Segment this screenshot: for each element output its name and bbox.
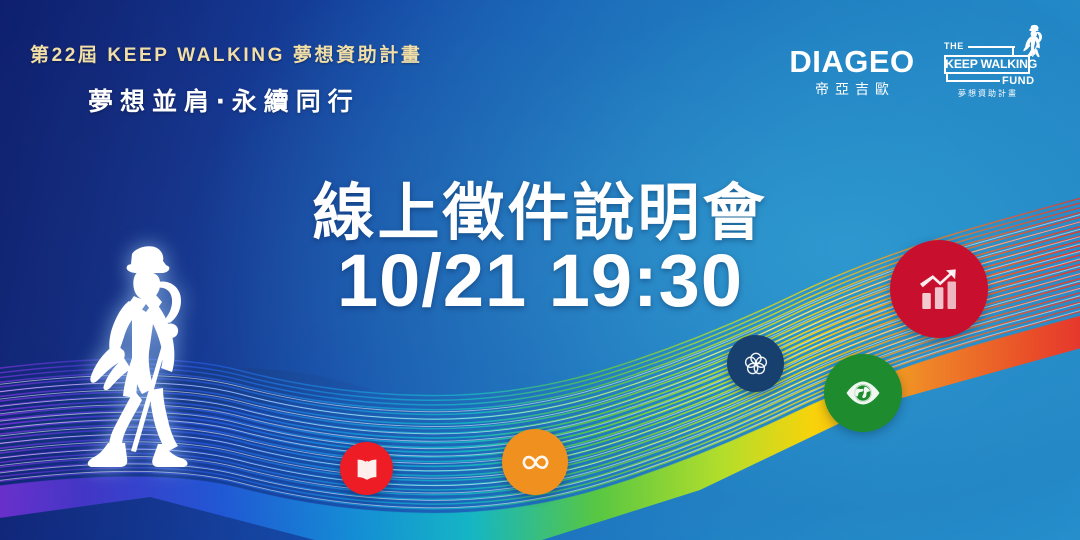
poster-canvas: 第22屆 KEEP WALKING 夢想資助計畫 夢想並肩‧永續同行 DIAGE…: [0, 0, 1080, 540]
sdg-life-on-land-badge: [824, 354, 902, 432]
kwf-top-rule: [968, 46, 1015, 48]
diageo-chinese-name: 帝亞吉歐: [786, 82, 918, 96]
kwf-wordmark-box: KEEP WALKING: [944, 55, 1030, 74]
open-book-icon: [352, 454, 382, 484]
sdg-partnership-badge: [727, 335, 784, 392]
striding-man-icon: [1018, 24, 1048, 58]
sdg-education-badge: [340, 442, 393, 495]
sdg-consumption-badge: [502, 429, 568, 495]
diageo-logo: DIAGEO 帝亞吉歐: [786, 46, 918, 96]
keep-walking-fund-logo: THE KEEP WALKING FUND 夢想資助計畫: [944, 28, 1048, 102]
eye-globe-icon: [841, 371, 885, 415]
kwf-wordmark: KEEP WALKING: [945, 57, 1029, 72]
rising-bar-chart-icon: [912, 262, 967, 317]
diageo-wordmark: DIAGEO: [786, 46, 918, 77]
interlocking-rings-icon: [740, 348, 772, 380]
program-tagline: 夢想並肩‧永續同行: [88, 82, 360, 118]
program-title: 第22屆 KEEP WALKING 夢想資助計畫: [30, 40, 422, 67]
kwf-top-tick: [1012, 46, 1014, 55]
kwf-the-label: THE: [944, 41, 964, 51]
sdg-economy-badge: [890, 240, 988, 338]
kwf-bottom-rule: [946, 80, 1000, 82]
infinity-loop-icon: [517, 444, 554, 481]
kwf-fund-label: FUND: [1002, 75, 1035, 87]
kwf-chinese-name: 夢想資助計畫: [944, 88, 1032, 99]
